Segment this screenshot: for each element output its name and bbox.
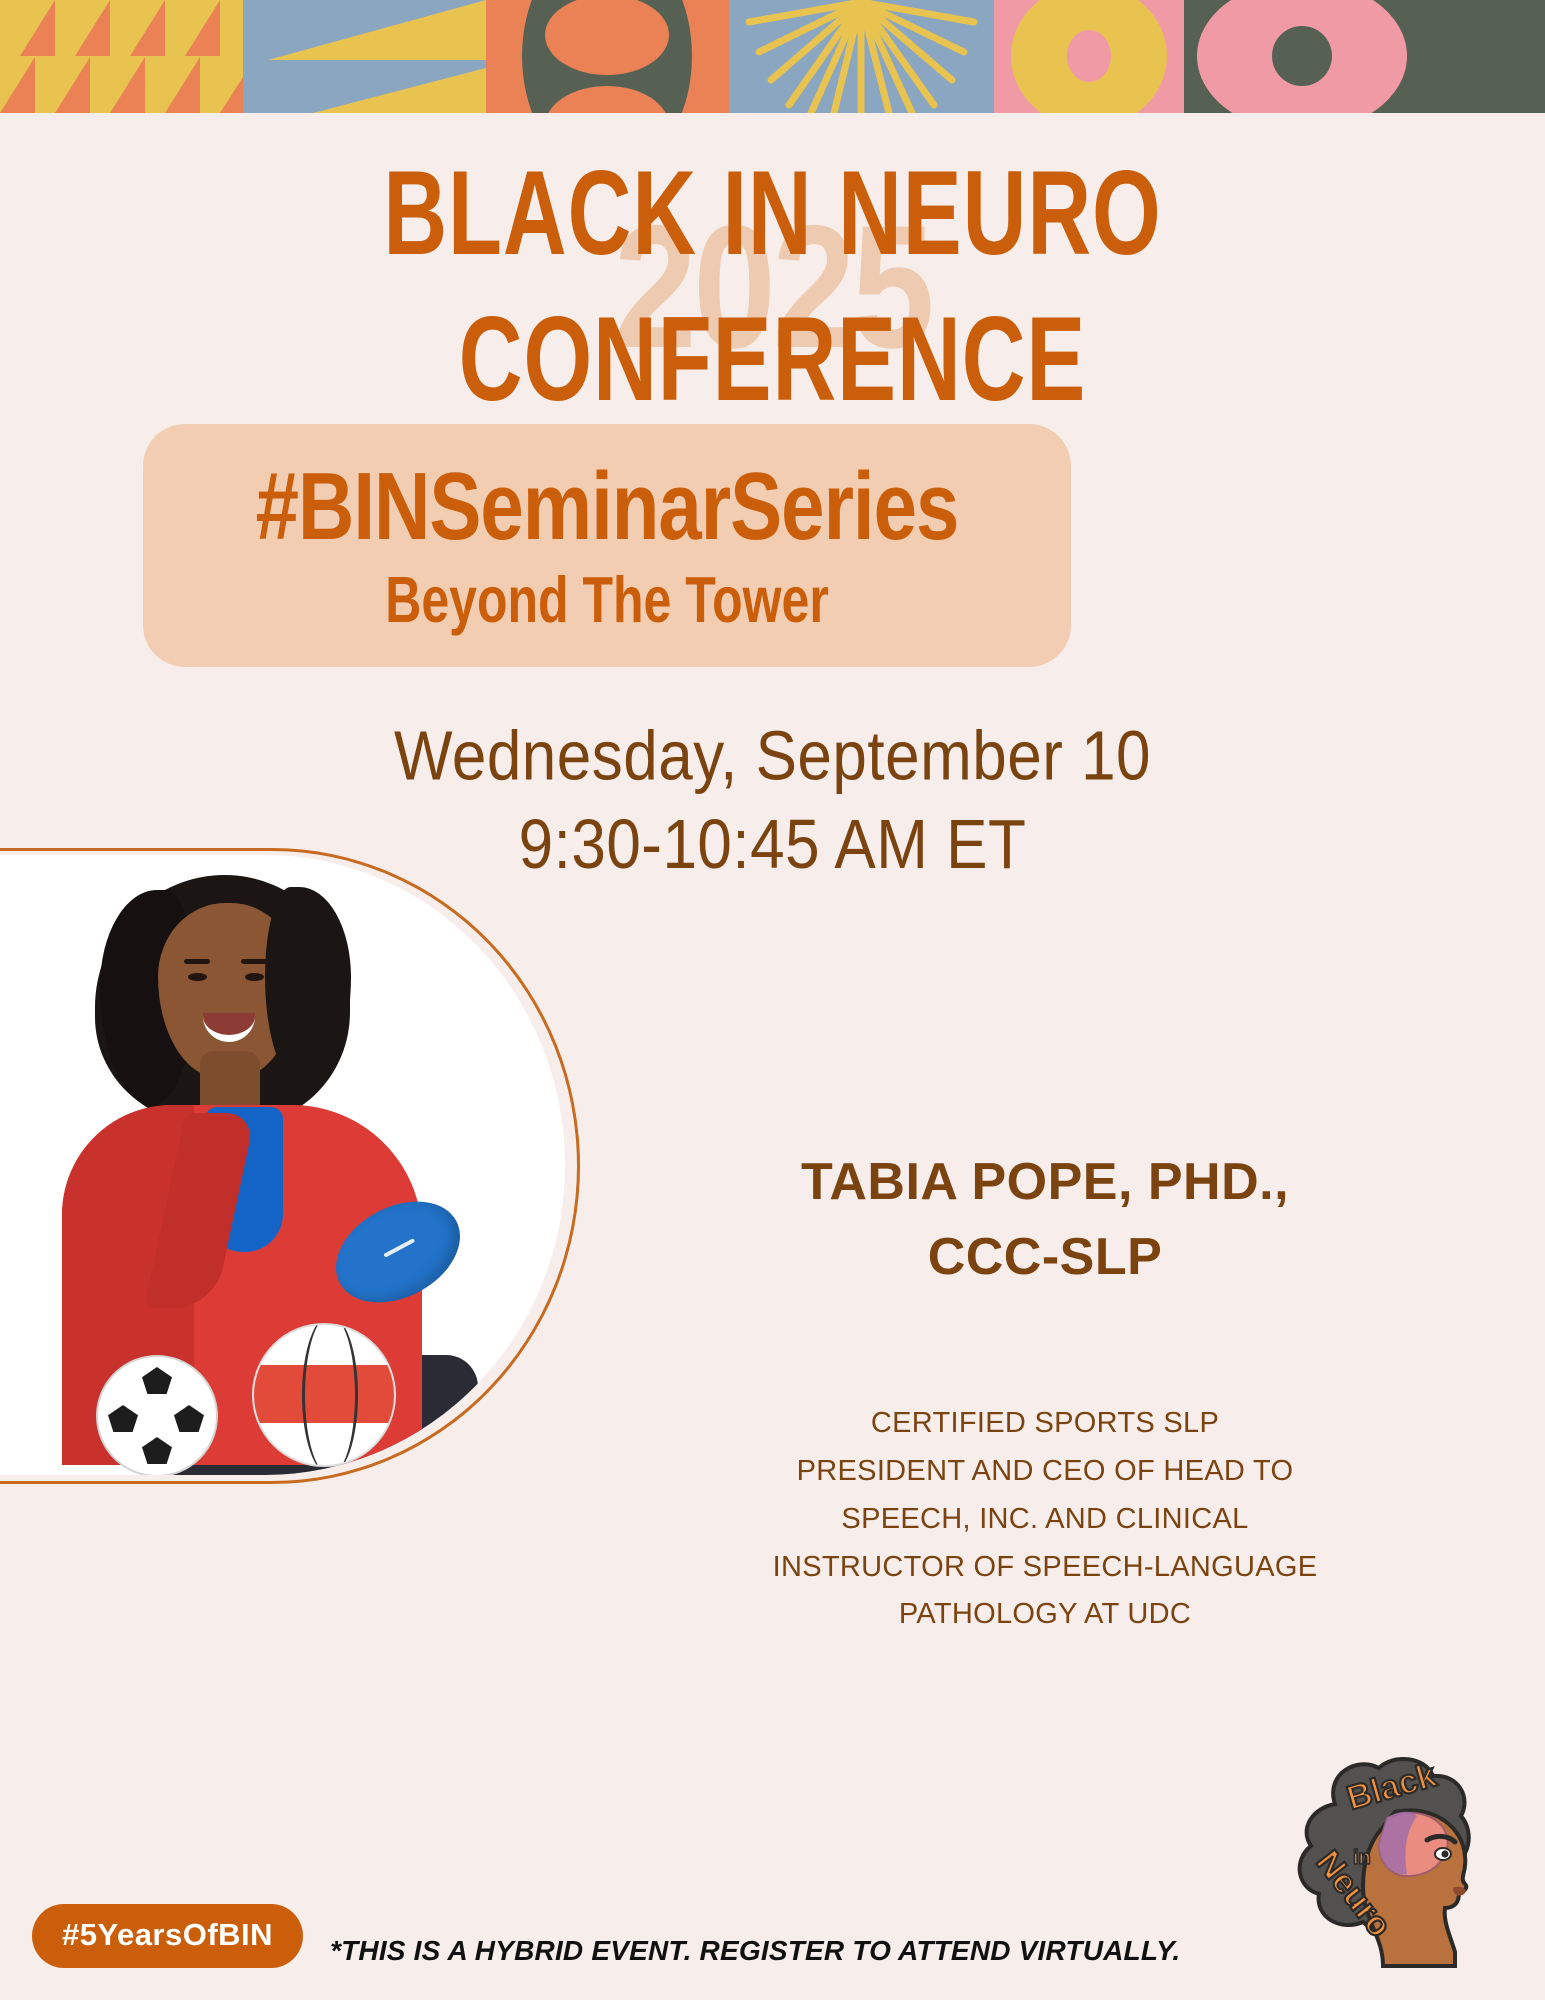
soccer-ball-icon [96,1355,218,1475]
zigzag-icon [243,0,486,113]
portrait-eye-left [188,973,207,981]
event-date: Wednesday, September 10 [0,712,1545,801]
pattern-tile-pink-ring [1184,0,1545,113]
page-title: BLACK IN NEURO CONFERENCE [62,140,1483,433]
pattern-tile-triangles [0,0,243,113]
pattern-tile-zigzag [243,0,486,113]
speaker-name-line-2: CCC-SLP [600,1220,1490,1295]
title-block: 2025 BLACK IN NEURO CONFERENCE [0,140,1545,374]
ring-pink-icon [1184,0,1545,113]
seminar-series-banner: #BINSeminarSeries Beyond The Tower [143,424,1071,667]
seminar-hashtag: #BINSeminarSeries [256,458,959,553]
speaker-name: TABIA POPE, PHD., CCC-SLP [600,1145,1490,1296]
pattern-tile-sunburst [729,0,994,113]
seminar-subtitle: Beyond The Tower [385,567,829,632]
title-line-1: BLACK IN NEURO [62,140,1483,286]
portrait-eye-right [245,973,264,981]
portrait-brow-left [184,959,210,964]
decorative-pattern-bar [0,0,1545,113]
speaker-bio-line: PRESIDENT AND CEO OF HEAD TO [600,1448,1490,1496]
ring-yellow-icon [994,0,1184,113]
sunburst-icon [729,0,994,113]
logo-icon: Black in Neuro [1275,1752,1500,1972]
lens-icon [486,0,729,113]
pattern-tile-lens [486,0,729,113]
title-line-2: CONFERENCE [62,286,1483,432]
black-in-neuro-logo: Black in Neuro [1275,1752,1500,1972]
triangles-icon [0,0,243,113]
speaker-bio-line: PATHOLOGY AT UDC [600,1591,1490,1639]
speaker-name-line-1: TABIA POPE, PHD., [600,1145,1490,1220]
portrait-brow-right [241,959,267,964]
speaker-bio-line: CERTIFIED SPORTS SLP [600,1400,1490,1448]
pattern-tile-yellow-ring [994,0,1184,113]
speaker-bio-line: INSTRUCTOR OF SPEECH-LANGUAGE [600,1544,1490,1592]
years-badge: #5YearsOfBIN [32,1904,303,1968]
basketball-icon [252,1323,396,1467]
hybrid-event-disclaimer: *THIS IS A HYBRID EVENT. REGISTER TO ATT… [330,1935,1180,1967]
event-flyer: 2025 BLACK IN NEURO CONFERENCE #BINSemin… [0,0,1545,2000]
speaker-bio-line: SPEECH, INC. AND CLINICAL [600,1496,1490,1544]
speaker-bio: CERTIFIED SPORTS SLP PRESIDENT AND CEO O… [600,1400,1490,1639]
